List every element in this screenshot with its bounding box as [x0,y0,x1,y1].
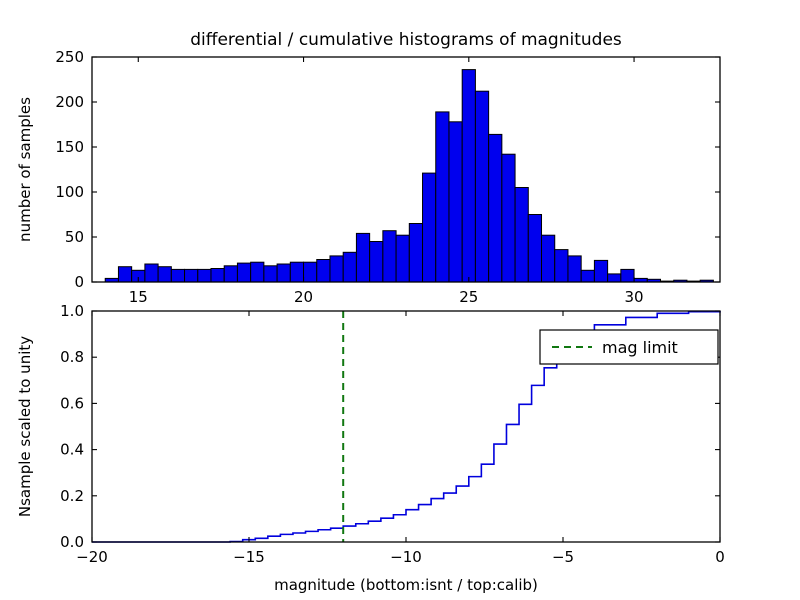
histogram-bar [237,263,250,282]
histogram-bar [370,242,383,283]
histogram-bar [185,269,198,282]
histogram-bar [383,231,396,282]
histogram-bar [198,269,211,282]
histogram-bar [475,91,488,282]
y-tick-label: 0.6 [60,394,84,412]
y-tick-label: 100 [55,183,84,201]
histogram-bar [396,235,409,282]
histogram-bar [251,262,264,282]
histogram-bar [449,122,462,282]
histogram-bar [343,252,356,282]
y-tick-label: 0.8 [60,348,84,366]
histogram-bar [489,134,502,282]
histogram-bar [568,256,581,282]
y-tick-label: 250 [55,48,84,66]
histogram-bar [409,224,422,283]
figure-title: differential / cumulative histograms of … [190,30,622,50]
histogram-bar [594,260,607,282]
y-tick-label: 0 [74,273,84,291]
histogram-bar [528,215,541,283]
histogram-bar [330,256,343,282]
histogram-bar [118,267,131,282]
x-tick-label: −10 [390,548,422,566]
histogram-bar [211,269,224,283]
histogram-bar [515,188,528,283]
y-tick-label: 0.2 [60,487,84,505]
top-panel-differential-histogram: 15202530050100150200250differential / cu… [16,30,720,306]
y-tick-label: 150 [55,138,84,156]
histogram-bar [621,269,634,282]
figure-canvas: 15202530050100150200250differential / cu… [0,0,800,600]
y-tick-label: 1.0 [60,302,84,320]
histogram-bar [158,267,171,282]
x-tick-label: 15 [129,288,148,306]
x-tick-label: −5 [552,548,574,566]
histogram-bar [290,262,303,282]
legend: mag limit [540,330,718,364]
y-tick-label: 0.0 [60,533,84,551]
histogram-bar [423,173,436,282]
bottom-panel-xlabel: magnitude (bottom:isnt / top:calib) [274,576,538,594]
top-panel-ylabel: number of samples [16,97,34,242]
histogram-bar [436,112,449,282]
histogram-bar [555,250,568,282]
histogram-bar [581,270,594,282]
histogram-bar [304,262,317,282]
histogram-bar [264,266,277,282]
histogram-bar [608,274,621,282]
x-tick-label: 30 [625,288,644,306]
histogram-bar [171,269,184,282]
matplotlib-figure: 15202530050100150200250differential / cu… [0,0,800,600]
histogram-bar [277,264,290,282]
histogram-bar [145,264,158,282]
bottom-panel-ylabel: Nsample scaled to unity [16,336,34,517]
x-tick-label: 20 [294,288,313,306]
y-tick-label: 50 [65,228,84,246]
histogram-bar [224,266,237,282]
x-tick-label: 25 [459,288,478,306]
histogram-bar [317,260,330,283]
legend-label-mag-limit: mag limit [602,338,678,357]
histogram-bars [105,70,713,282]
x-tick-label: 0 [715,548,725,566]
bottom-panel-cumulative-histogram: −20−15−10−500.00.20.40.60.81.0magnitude … [16,302,725,594]
x-tick-label: −15 [233,548,265,566]
histogram-bar [356,233,369,282]
y-tick-label: 0.4 [60,441,84,459]
y-tick-label: 200 [55,93,84,111]
histogram-bar [542,235,555,282]
histogram-bar [462,70,475,282]
histogram-bar [502,154,515,282]
